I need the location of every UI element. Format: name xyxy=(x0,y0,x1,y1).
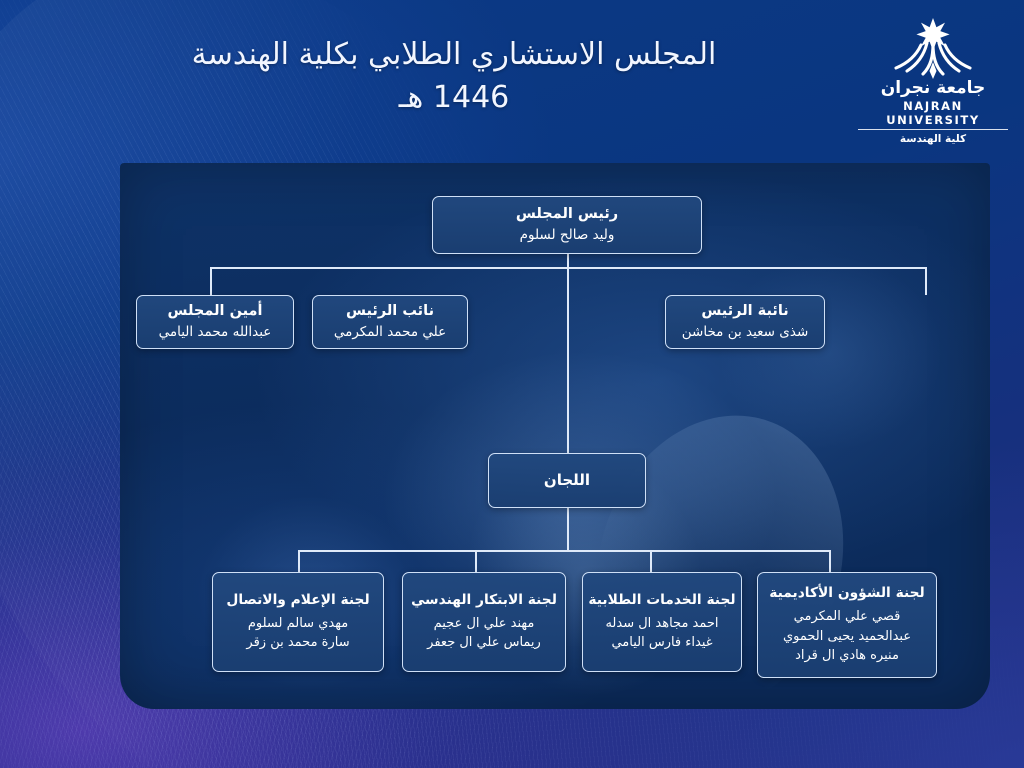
connector-committee-drop-3 xyxy=(650,550,652,572)
connector-committees-down xyxy=(567,508,569,550)
logo-faculty-name: كلية الهندسة xyxy=(858,133,1008,145)
node-person: ريماس علي ال جعفر xyxy=(427,633,541,653)
node-committee-student-services[interactable]: لجنة الخدمات الطلابية احمد مجاهد ال سدله… xyxy=(582,572,742,672)
connector-officer-drop-1 xyxy=(210,267,212,295)
node-person: شذى سعيد بن مخاشن xyxy=(682,323,809,342)
node-person: احمد مجاهد ال سدله xyxy=(605,614,718,634)
logo-name-arabic: جامعة نجران xyxy=(858,78,1008,98)
node-person: وليد صالح لسلوم xyxy=(520,226,615,245)
header: المجلس الاستشاري الطلابي بكلية الهندسة 1… xyxy=(0,0,1024,163)
node-person: سارة محمد بن زقر xyxy=(246,633,349,653)
node-role: لجنة الابتكار الهندسي xyxy=(411,591,557,610)
node-role: أمين المجلس xyxy=(168,302,263,322)
org-chart: رئيس المجلس وليد صالح لسلوم أمين المجلس … xyxy=(120,163,990,709)
connector-officer-drop-3 xyxy=(925,267,927,295)
node-vice-president-male[interactable]: نائب الرئيس علي محمد المكرمي xyxy=(312,295,468,349)
logo-name-english: NAJRAN UNIVERSITY xyxy=(858,99,1008,130)
connector-committee-drop-1 xyxy=(298,550,300,572)
org-chart-panel: رئيس المجلس وليد صالح لسلوم أمين المجلس … xyxy=(120,163,990,709)
node-committee-media-communication[interactable]: لجنة الإعلام والاتصال مهدي سالم لسلوم سا… xyxy=(212,572,384,672)
node-role: نائب الرئيس xyxy=(346,302,434,322)
node-role: لجنة الإعلام والاتصال xyxy=(226,591,369,610)
connector-committee-drop-2 xyxy=(475,550,477,572)
connector-root-to-committees xyxy=(567,267,569,453)
connector-committees-bus xyxy=(298,550,830,552)
node-person: عبدالله محمد اليامي xyxy=(159,323,272,342)
node-person: قصي علي المكرمي xyxy=(794,607,901,627)
node-person: مهدي سالم لسلوم xyxy=(248,614,348,634)
node-person: عبدالحميد يحيى الحموي xyxy=(783,627,911,647)
node-role: نائبة الرئيس xyxy=(701,302,788,322)
node-person: مهند علي ال عجيم xyxy=(434,614,535,634)
node-person: منيره هادي ال قراد xyxy=(795,646,899,666)
university-logo: جامعة نجران NAJRAN UNIVERSITY كلية الهند… xyxy=(858,18,1008,140)
node-role: لجنة الخدمات الطلابية xyxy=(588,591,735,610)
connector-committee-drop-4 xyxy=(829,550,831,572)
node-role: لجنة الشؤون الأكاديمية xyxy=(769,584,924,603)
node-council-secretary[interactable]: أمين المجلس عبدالله محمد اليامي xyxy=(136,295,294,349)
node-committees[interactable]: اللجان xyxy=(488,453,646,508)
node-committee-academic-affairs[interactable]: لجنة الشؤون الأكاديمية قصي علي المكرمي ع… xyxy=(757,572,937,678)
node-role: اللجان xyxy=(544,470,590,490)
node-person: علي محمد المكرمي xyxy=(334,323,446,342)
node-vice-president-female[interactable]: نائبة الرئيس شذى سعيد بن مخاشن xyxy=(665,295,825,349)
connector-root-down xyxy=(567,254,569,268)
node-committee-engineering-innovation[interactable]: لجنة الابتكار الهندسي مهند علي ال عجيم ر… xyxy=(402,572,566,672)
najran-university-emblem-icon xyxy=(887,18,979,80)
node-council-president[interactable]: رئيس المجلس وليد صالح لسلوم xyxy=(432,196,702,254)
node-person: غيداء فارس اليامي xyxy=(611,633,712,653)
node-role: رئيس المجلس xyxy=(516,205,618,225)
page-title: المجلس الاستشاري الطلابي بكلية الهندسة 1… xyxy=(109,34,799,119)
